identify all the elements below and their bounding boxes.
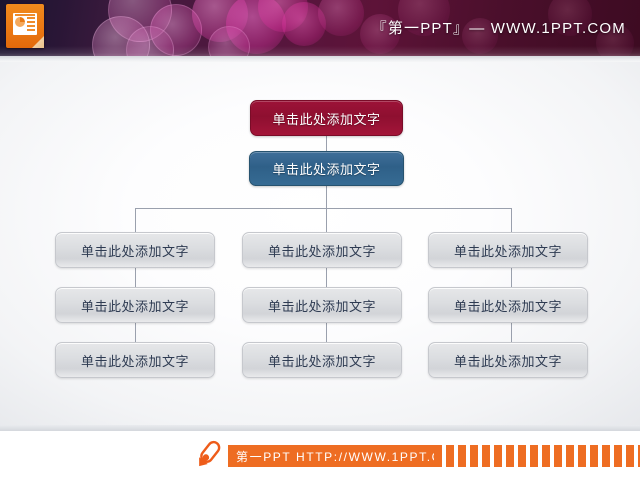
node-col1-row1[interactable]: 单击此处添加文字	[55, 232, 215, 268]
connector-drop-column-2	[326, 208, 327, 232]
bokeh-circle	[282, 2, 326, 46]
node-col1-row3[interactable]: 单击此处添加文字	[55, 342, 215, 378]
connector-drop-column-3	[511, 208, 512, 232]
node-col3-row1-label: 单击此处添加文字	[454, 241, 562, 260]
node-col1-row3-label: 单击此处添加文字	[81, 351, 189, 370]
footer-banner-text: 第一PPT HTTP://WWW.1PPT.COM	[236, 448, 464, 465]
bokeh-circle	[318, 0, 364, 36]
connector-col3-row2-row3	[511, 322, 512, 342]
pencil-icon	[192, 437, 224, 471]
bokeh-circle	[258, 0, 308, 32]
node-root[interactable]: 单击此处添加文字	[250, 100, 403, 136]
node-col2-row2-label: 单击此处添加文字	[268, 296, 376, 315]
node-col3-row3-label: 单击此处添加文字	[454, 351, 562, 370]
node-col3-row2-label: 单击此处添加文字	[454, 296, 562, 315]
connector-root-to-second	[326, 136, 327, 152]
node-col2-row1-label: 单击此处添加文字	[268, 241, 376, 260]
connector-second-down	[326, 186, 327, 208]
header-title: 『第一PPT』— WWW.1PPT.COM	[372, 17, 626, 38]
node-col1-row1-label: 单击此处添加文字	[81, 241, 189, 260]
node-root-label: 单击此处添加文字	[272, 109, 380, 128]
slide-canvas: 单击此处添加文字 单击此处添加文字 单击此处添加文字 单击此处添加文字 单击此处…	[0, 56, 640, 430]
node-col1-row2-label: 单击此处添加文字	[81, 296, 189, 315]
powerpoint-icon-glyph	[13, 13, 37, 35]
connector-col2-row1-row2	[326, 268, 327, 288]
powerpoint-icon	[6, 4, 48, 50]
footer-top-edge	[0, 425, 640, 431]
bokeh-circle	[192, 0, 248, 42]
header-bar: 『第一PPT』— WWW.1PPT.COM	[0, 0, 640, 56]
node-col3-row2[interactable]: 单击此处添加文字	[428, 287, 588, 323]
pie-glyph	[15, 17, 25, 27]
header-sheen	[0, 46, 640, 56]
node-col2-row3-label: 单击此处添加文字	[268, 351, 376, 370]
bokeh-circle	[108, 0, 172, 42]
node-col3-row1[interactable]: 单击此处添加文字	[428, 232, 588, 268]
connector-drop-column-1	[135, 208, 136, 232]
connector-col3-row1-row2	[511, 268, 512, 288]
footer-stripes	[434, 445, 640, 467]
slide-top-edge	[0, 56, 640, 62]
connector-horizontal-bus	[135, 208, 512, 209]
node-col3-row3[interactable]: 单击此处添加文字	[428, 342, 588, 378]
connector-col1-row1-row2	[135, 268, 136, 288]
node-second-label: 单击此处添加文字	[272, 159, 380, 178]
node-col2-row3[interactable]: 单击此处添加文字	[242, 342, 402, 378]
connector-col2-row2-row3	[326, 322, 327, 342]
node-second[interactable]: 单击此处添加文字	[249, 151, 404, 186]
node-col2-row2[interactable]: 单击此处添加文字	[242, 287, 402, 323]
slide-page: 『第一PPT』— WWW.1PPT.COM 单击此处添加文字 单击此处添加文字	[0, 0, 640, 480]
connector-col1-row2-row3	[135, 322, 136, 342]
node-col2-row1[interactable]: 单击此处添加文字	[242, 232, 402, 268]
node-col1-row2[interactable]: 单击此处添加文字	[55, 287, 215, 323]
